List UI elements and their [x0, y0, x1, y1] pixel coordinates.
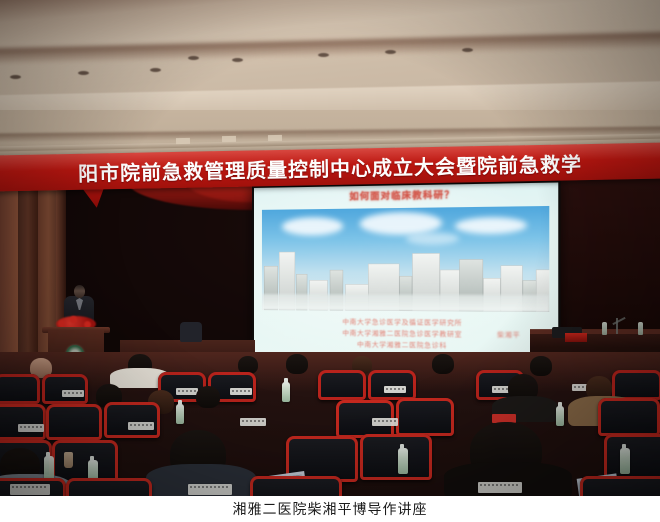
ceiling-spotlight-icon [232, 58, 243, 62]
water-bottle-icon [176, 404, 184, 424]
ceiling-spotlight-icon [188, 56, 199, 60]
caption-bar: 湘雅二医院柴湘平博导作讲座 [0, 496, 660, 522]
slide-presenter-name: 柴湘平 [497, 329, 520, 341]
seat-number-tag [62, 390, 84, 397]
auditorium-seat [598, 398, 660, 436]
screenshot-root: 如何面对临床教科研？ [0, 0, 660, 522]
seat-number-tag [240, 418, 266, 426]
auditorium-seat [66, 478, 152, 496]
audience-area [0, 352, 660, 496]
ceiling-spotlight-icon [150, 68, 161, 72]
event-photograph: 如何面对临床教科研？ [0, 0, 660, 496]
auditorium-seat [46, 404, 102, 440]
auditorium-seat [360, 434, 432, 480]
red-label-device [565, 333, 587, 342]
seat-number-tag [230, 388, 252, 395]
projection-screen: 如何面对临床教科研？ [254, 182, 558, 369]
water-bottle-icon [44, 456, 54, 480]
auditorium-seat [42, 374, 88, 404]
auditorium-seat [0, 374, 40, 404]
slide-ground [262, 294, 549, 312]
seat-number-tag [128, 422, 154, 430]
flower-icon [58, 320, 65, 327]
water-bottle-icon [282, 382, 290, 402]
ceiling-spotlight-icon [385, 50, 396, 54]
slide-text-block: 中南大学急诊医学及循证医学研究所 中南大学湘雅二医院急诊医学教研室 柴湘平 中南… [254, 316, 558, 353]
seat-number-tag [384, 386, 406, 393]
cloud-icon [406, 232, 459, 245]
auditorium-seat [318, 370, 366, 400]
water-bottle-icon [556, 406, 564, 426]
water-bottle-icon [398, 448, 408, 474]
water-bottle-icon [620, 448, 630, 474]
audience-member [196, 386, 220, 408]
audience-member [286, 354, 308, 374]
ceiling-spotlight-icon [462, 48, 473, 52]
seat-number-tag [478, 482, 522, 493]
seat-number-tag [188, 484, 232, 495]
cloud-icon [455, 217, 527, 234]
banner-clip-icon [176, 138, 190, 144]
seat-number-tag [176, 388, 198, 395]
auditorium-seat [104, 402, 160, 438]
audience-member [432, 354, 454, 374]
stage-chair [180, 322, 202, 342]
caption-text: 湘雅二医院柴湘平博导作讲座 [233, 499, 428, 519]
speaker-head [74, 285, 85, 298]
seat-number-tag [18, 424, 44, 432]
auditorium-seat [612, 370, 660, 400]
paper-cup-icon [64, 452, 73, 468]
slide-cityscape-image [262, 206, 549, 312]
banner-clip-icon [222, 136, 236, 142]
ceiling-spotlight-icon [78, 71, 89, 75]
water-bottle-icon [638, 322, 643, 335]
water-bottle-icon [602, 322, 607, 335]
flower-icon [70, 316, 77, 323]
ceiling-spotlight-icon [10, 75, 21, 79]
projection-screen-frame: 如何面对临床教科研？ [252, 180, 561, 373]
auditorium-seat [368, 370, 416, 400]
auditorium-seat [0, 404, 46, 440]
seat-number-tag [10, 484, 50, 495]
auditorium-seat [250, 476, 342, 496]
ceiling-spotlight-icon [318, 53, 329, 57]
slide-line-2-text: 中南大学湘雅二医院急诊医学教研室 [342, 329, 462, 339]
auditorium-seat [396, 398, 454, 436]
audience-member [530, 356, 552, 376]
banner-clip-icon [268, 135, 282, 141]
cloud-icon [282, 217, 343, 236]
auditorium-seat [580, 476, 660, 496]
seat-number-tag [372, 418, 398, 426]
